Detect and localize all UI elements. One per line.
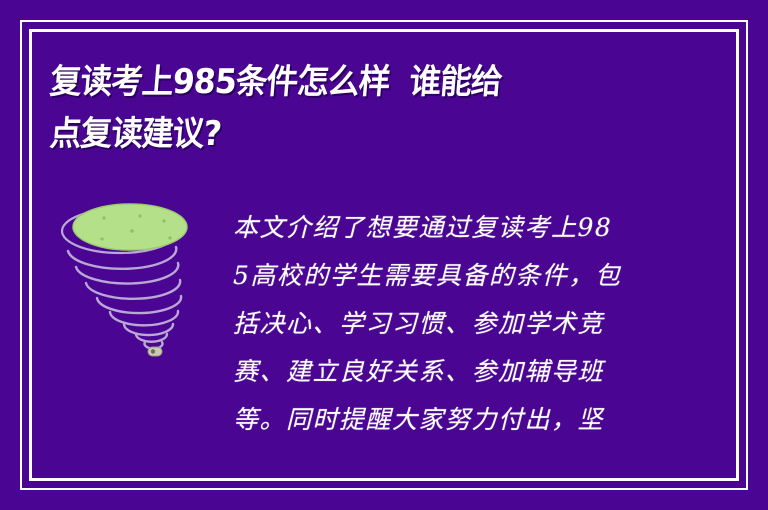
disc-dot [130,229,134,233]
base-object-detail [151,349,155,353]
body-text: 本文介绍了想要通过复读考上98 5高校的学生需要具备的条件，包 括决心、学习习惯… [233,204,663,444]
body-line-1: 本文介绍了想要通过复读考上98 [233,204,663,252]
body-line-3: 括决心、学习习惯、参加学术竞 [233,300,663,348]
body-line-2: 5高校的学生需要具备的条件，包 [233,252,663,300]
title-line-2: 点复读建议? [48,108,666,160]
disc-dot [100,237,103,240]
disc-dot [162,219,165,222]
body-line-5: 等。同时提醒大家努力付出，坚 [233,396,663,444]
page-title: 复读考上985条件怎么样 谁能给 点复读建议? [50,56,710,160]
disc-top [73,204,187,250]
disc-dot [102,216,105,219]
disc-dot [168,236,171,239]
body-line-4: 赛、建立良好关系、参加辅导班 [233,348,663,396]
tornado-spiral [68,247,181,349]
disc-dot [138,214,141,217]
tornado-illustration [48,195,208,375]
title-line-1: 复读考上985条件怎么样 谁能给 [48,56,666,108]
article-cover-banner: 复读考上985条件怎么样 谁能给 点复读建议? [0,0,768,510]
tornado-icon [48,195,208,375]
